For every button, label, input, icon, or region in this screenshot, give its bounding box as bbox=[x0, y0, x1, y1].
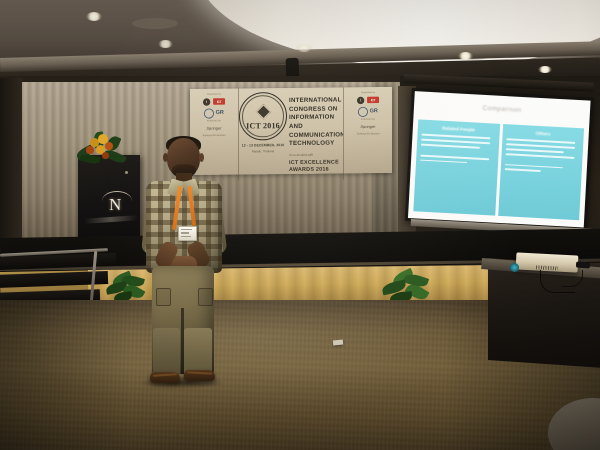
slide-surface: Comparison Related People Others bbox=[408, 91, 591, 227]
sponsor-badge-icon: i bbox=[357, 96, 364, 103]
sponsor-caption-bottom: Technical Co-Sponsor bbox=[356, 133, 379, 136]
sponsor-ict-logo: ICT bbox=[367, 97, 379, 104]
podium-brand-letter: N bbox=[109, 196, 121, 213]
gr-ring-icon bbox=[358, 106, 368, 116]
banner-place: Riyadh, Thailand bbox=[252, 149, 274, 153]
springer-logo: Springer bbox=[360, 124, 375, 129]
trouser-cargo-pocket bbox=[156, 288, 171, 306]
banner-logo-block: ICT 2016 12 - 13 DECEMBER, 2016 Riyadh, … bbox=[239, 88, 287, 175]
sponsor-caption-mid: Published by bbox=[207, 120, 221, 123]
projection-screen: Comparison Related People Others bbox=[405, 88, 594, 231]
trouser-seam bbox=[181, 308, 184, 374]
curtain-shadow-left bbox=[0, 78, 22, 248]
slide-text-line bbox=[504, 164, 563, 169]
presenter bbox=[122, 138, 240, 388]
downlight-icon bbox=[158, 40, 173, 48]
sponsor-badge-icon: i bbox=[203, 98, 210, 105]
presenter-leg-right bbox=[184, 328, 212, 376]
sponsor-gr-logo: GR bbox=[204, 108, 224, 118]
banner-title-block: INTERNATIONAL CONGRESS ON INFORMATION AN… bbox=[287, 87, 343, 174]
presenter-name-badge bbox=[178, 226, 197, 241]
sponsor-caption-top: Organized by bbox=[207, 94, 221, 97]
downlight-icon bbox=[538, 66, 552, 73]
slide-text-line bbox=[505, 148, 564, 153]
gr-label: GR bbox=[370, 109, 378, 115]
springer-logo: Springer bbox=[206, 126, 221, 131]
downlight-icon bbox=[86, 12, 102, 21]
ict-acronym: ICT 2016 bbox=[240, 121, 286, 130]
slide-card-heading: Others bbox=[506, 129, 580, 138]
sponsor-ict-logo: ICT bbox=[213, 98, 225, 105]
table-accessory bbox=[576, 262, 590, 269]
slide-spacer bbox=[421, 148, 495, 155]
presenter-ear bbox=[199, 153, 204, 162]
ict-emblem-icon: ICT 2016 bbox=[239, 92, 287, 141]
sponsor-caption-top: Organized by bbox=[361, 92, 375, 95]
slide-columns: Related People Others bbox=[408, 119, 589, 227]
trouser-cargo-pocket bbox=[198, 288, 213, 306]
projector-lens-icon bbox=[510, 263, 519, 272]
slide-text-line bbox=[420, 154, 489, 160]
ceiling-vent-icon bbox=[132, 18, 178, 29]
presenter-ear bbox=[163, 153, 168, 162]
banner-awards-line: AWARDS 2016 bbox=[289, 167, 343, 175]
downlight-icon bbox=[296, 44, 312, 52]
banner-conjunction: In co-located with bbox=[289, 152, 343, 157]
slide-text-line bbox=[504, 168, 541, 172]
slide-text-line bbox=[421, 143, 480, 148]
sponsor-caption-mid: Published by bbox=[361, 118, 375, 121]
slide-text-line bbox=[420, 159, 467, 163]
gr-label: GR bbox=[216, 110, 224, 116]
slide-card-right: Others bbox=[498, 124, 584, 220]
downlight-icon bbox=[458, 52, 473, 60]
banner-sponsor-panel-right: Organized by i ICT GR Published by Sprin… bbox=[343, 87, 392, 180]
banner-dates: 12 - 13 DECEMBER, 2016 bbox=[242, 143, 285, 147]
presenter-leg-left bbox=[153, 328, 180, 376]
slide-spacer bbox=[505, 158, 579, 165]
conference-room-photo: Organized by i ICT GR Published by Sprin… bbox=[0, 0, 600, 450]
banner-title-line: INFORMATION AND bbox=[289, 114, 343, 132]
emblem-diamond-icon bbox=[255, 104, 271, 120]
banner-main-panel: ICT 2016 12 - 13 DECEMBER, 2016 Riyadh, … bbox=[239, 87, 343, 174]
slide-card-heading: Related People bbox=[422, 125, 496, 134]
paper-on-floor bbox=[333, 339, 343, 345]
slide-card-left: Related People bbox=[413, 119, 499, 215]
sponsor-gr-logo: GR bbox=[358, 106, 378, 116]
gr-ring-icon bbox=[204, 108, 214, 118]
banner-title-line: TECHNOLOGY bbox=[289, 140, 343, 149]
